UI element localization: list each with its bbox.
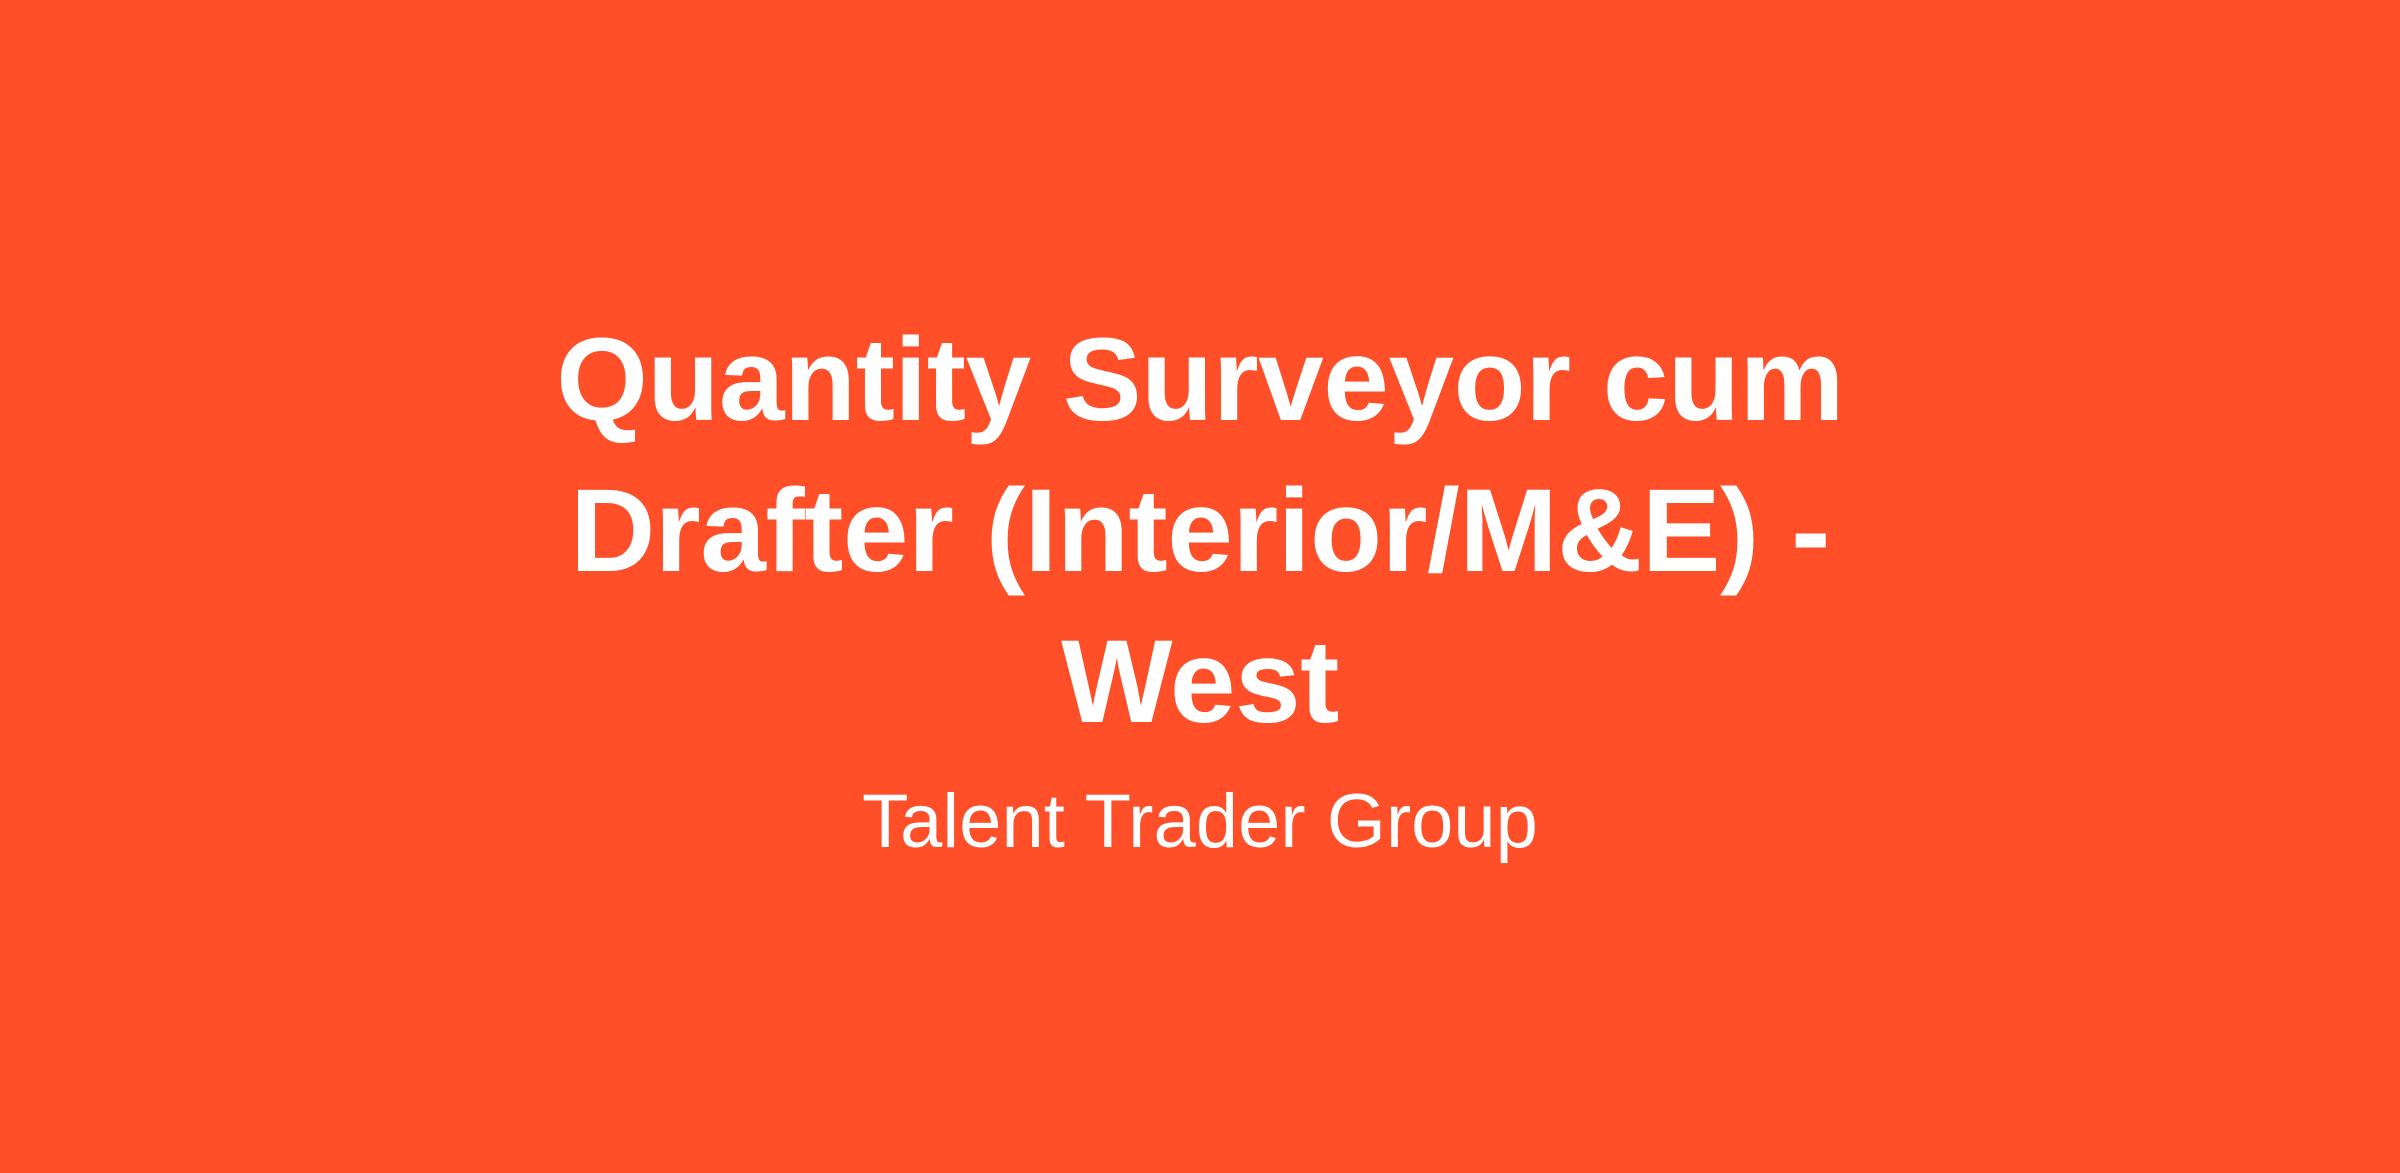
company-name: Talent Trader Group [862, 776, 1538, 867]
job-listing-content: Quantity Surveyor cum Drafter (Interior/… [500, 305, 1900, 867]
job-title: Quantity Surveyor cum Drafter (Interior/… [500, 305, 1900, 758]
job-listing-card: Quantity Surveyor cum Drafter (Interior/… [0, 0, 2400, 1173]
